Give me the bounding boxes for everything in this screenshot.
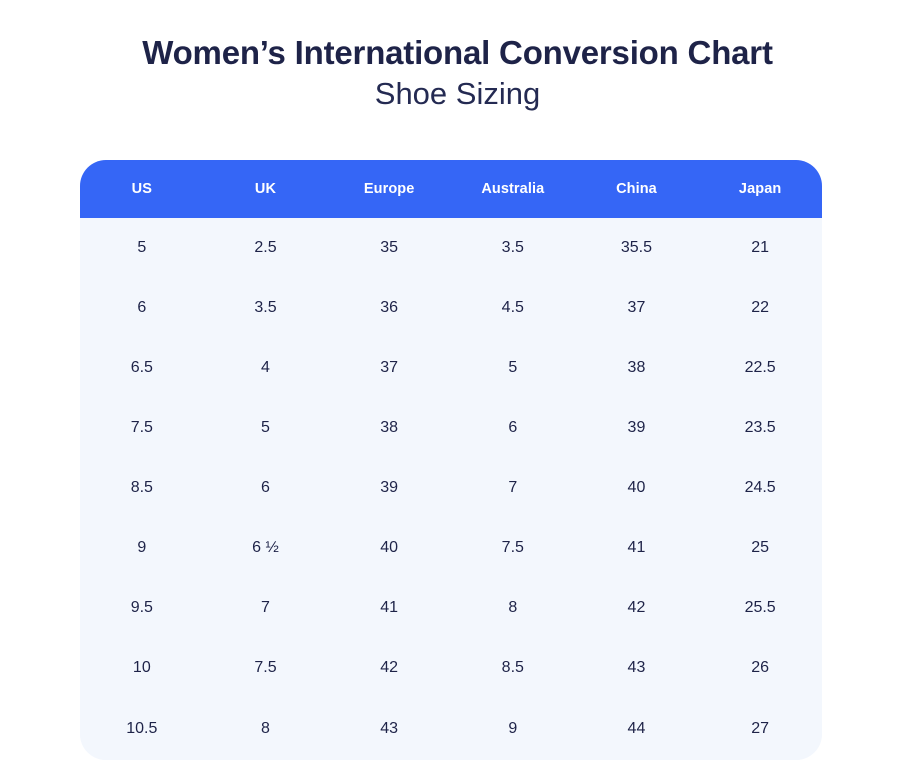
cell-europe: 42 bbox=[327, 638, 451, 698]
cell-japan: 22.5 bbox=[698, 338, 822, 398]
cell-japan: 26 bbox=[698, 638, 822, 698]
cell-japan: 21 bbox=[698, 218, 822, 278]
cell-china: 38 bbox=[575, 338, 699, 398]
column-header-japan: Japan bbox=[698, 160, 822, 218]
table-row: 7.5 5 38 6 39 23.5 bbox=[80, 398, 822, 458]
cell-australia: 7 bbox=[451, 458, 575, 518]
cell-europe: 35 bbox=[327, 218, 451, 278]
cell-us: 5 bbox=[80, 218, 204, 278]
column-header-australia: Australia bbox=[451, 160, 575, 218]
cell-europe: 37 bbox=[327, 338, 451, 398]
cell-uk: 5 bbox=[204, 398, 328, 458]
cell-uk: 6 bbox=[204, 458, 328, 518]
column-header-china: China bbox=[575, 160, 699, 218]
column-header-europe: Europe bbox=[327, 160, 451, 218]
cell-china: 37 bbox=[575, 278, 699, 338]
cell-uk: 6 ½ bbox=[204, 518, 328, 578]
cell-japan: 23.5 bbox=[698, 398, 822, 458]
cell-us: 9 bbox=[80, 518, 204, 578]
cell-australia: 9 bbox=[451, 698, 575, 760]
cell-china: 40 bbox=[575, 458, 699, 518]
cell-australia: 4.5 bbox=[451, 278, 575, 338]
table-row: 9.5 7 41 8 42 25.5 bbox=[80, 578, 822, 638]
cell-europe: 41 bbox=[327, 578, 451, 638]
cell-australia: 6 bbox=[451, 398, 575, 458]
page-title: Women’s International Conversion Chart bbox=[0, 34, 915, 73]
cell-australia: 5 bbox=[451, 338, 575, 398]
page-subtitle: Shoe Sizing bbox=[0, 75, 915, 112]
table-body: 5 2.5 35 3.5 35.5 21 6 3.5 36 4.5 37 22 … bbox=[80, 218, 822, 760]
cell-us: 7.5 bbox=[80, 398, 204, 458]
table-row: 9 6 ½ 40 7.5 41 25 bbox=[80, 518, 822, 578]
page-heading: Women’s International Conversion Chart S… bbox=[0, 0, 915, 112]
table-header: US UK Europe Australia China Japan bbox=[80, 160, 822, 218]
cell-japan: 25.5 bbox=[698, 578, 822, 638]
cell-uk: 8 bbox=[204, 698, 328, 760]
cell-us: 6 bbox=[80, 278, 204, 338]
cell-japan: 24.5 bbox=[698, 458, 822, 518]
cell-china: 42 bbox=[575, 578, 699, 638]
cell-us: 8.5 bbox=[80, 458, 204, 518]
cell-japan: 22 bbox=[698, 278, 822, 338]
cell-uk: 7 bbox=[204, 578, 328, 638]
conversion-table-card: US UK Europe Australia China Japan 5 2.5… bbox=[80, 160, 822, 760]
cell-uk: 7.5 bbox=[204, 638, 328, 698]
cell-australia: 8.5 bbox=[451, 638, 575, 698]
cell-china: 41 bbox=[575, 518, 699, 578]
cell-china: 44 bbox=[575, 698, 699, 760]
table-row: 5 2.5 35 3.5 35.5 21 bbox=[80, 218, 822, 278]
cell-us: 9.5 bbox=[80, 578, 204, 638]
table-row: 6 3.5 36 4.5 37 22 bbox=[80, 278, 822, 338]
column-header-uk: UK bbox=[204, 160, 328, 218]
cell-china: 43 bbox=[575, 638, 699, 698]
cell-us: 6.5 bbox=[80, 338, 204, 398]
cell-china: 35.5 bbox=[575, 218, 699, 278]
cell-uk: 4 bbox=[204, 338, 328, 398]
cell-europe: 38 bbox=[327, 398, 451, 458]
cell-australia: 8 bbox=[451, 578, 575, 638]
cell-australia: 3.5 bbox=[451, 218, 575, 278]
cell-us: 10.5 bbox=[80, 698, 204, 760]
cell-europe: 39 bbox=[327, 458, 451, 518]
table-row: 10 7.5 42 8.5 43 26 bbox=[80, 638, 822, 698]
cell-uk: 2.5 bbox=[204, 218, 328, 278]
cell-japan: 27 bbox=[698, 698, 822, 760]
table-row: 6.5 4 37 5 38 22.5 bbox=[80, 338, 822, 398]
cell-europe: 36 bbox=[327, 278, 451, 338]
table-row: 10.5 8 43 9 44 27 bbox=[80, 698, 822, 760]
cell-uk: 3.5 bbox=[204, 278, 328, 338]
table-header-row: US UK Europe Australia China Japan bbox=[80, 160, 822, 218]
cell-japan: 25 bbox=[698, 518, 822, 578]
cell-us: 10 bbox=[80, 638, 204, 698]
page-root: Women’s International Conversion Chart S… bbox=[0, 0, 915, 777]
cell-europe: 43 bbox=[327, 698, 451, 760]
conversion-table: US UK Europe Australia China Japan 5 2.5… bbox=[80, 160, 822, 760]
cell-europe: 40 bbox=[327, 518, 451, 578]
cell-china: 39 bbox=[575, 398, 699, 458]
table-row: 8.5 6 39 7 40 24.5 bbox=[80, 458, 822, 518]
column-header-us: US bbox=[80, 160, 204, 218]
cell-australia: 7.5 bbox=[451, 518, 575, 578]
